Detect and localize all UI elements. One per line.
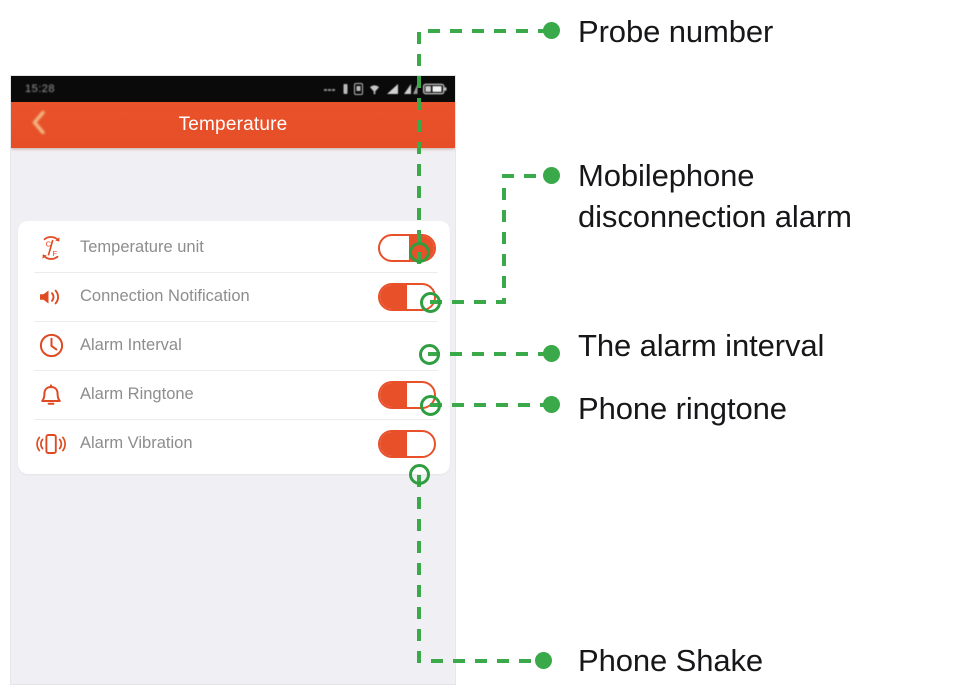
temperature-unit-toggle[interactable]: [378, 234, 436, 262]
settings-label: Temperature unit: [80, 238, 204, 257]
speaker-sound-icon: [34, 284, 68, 310]
wifi-icon: [368, 83, 381, 95]
signal-bars-icon: [386, 83, 399, 95]
status-bar: 15:28: [11, 76, 455, 102]
annotation-dot-alarm-interval: [543, 345, 560, 362]
back-chevron-icon[interactable]: [29, 110, 49, 141]
annotation-label-probe-number: Probe number: [578, 11, 773, 52]
toggle-knob: [407, 384, 433, 409]
annotation-label-phone-ringtone: Phone ringtone: [578, 388, 787, 429]
toggle-track-fill: [380, 432, 407, 456]
alarm-ringtone-control[interactable]: [378, 381, 436, 409]
annotation-dot-phone-shake: [535, 652, 552, 669]
status-bar-icons: [324, 83, 447, 95]
settings-label: Alarm Vibration: [80, 434, 193, 453]
toggle-knob: [407, 433, 433, 458]
svg-text:F: F: [52, 249, 57, 258]
clock-icon: [34, 332, 68, 359]
settings-label: Alarm Ringtone: [80, 385, 194, 404]
toggle-knob: [407, 286, 433, 311]
connection-notification-control[interactable]: [378, 283, 436, 311]
battery-icon: [423, 83, 447, 95]
annotation-label-mobilephone-disconnection-alarm: Mobilephone disconnection alarm: [578, 155, 852, 237]
settings-label: Connection Notification: [80, 287, 250, 306]
sim-card-icon: [354, 83, 363, 95]
settings-card: C F Temperature unit: [18, 221, 450, 474]
connection-notification-toggle[interactable]: [378, 283, 436, 311]
signal-bars-2-icon: [404, 83, 418, 95]
settings-row-alarm-interval[interactable]: Alarm Interval: [18, 321, 450, 370]
celsius-fahrenheit-swap-icon: C F: [34, 233, 68, 263]
temperature-unit-control[interactable]: [378, 234, 436, 262]
settings-row-temperature-unit[interactable]: C F Temperature unit: [18, 223, 450, 272]
app-title-bar: Temperature: [11, 102, 455, 148]
bell-icon: [34, 381, 68, 409]
settings-row-alarm-vibration[interactable]: Alarm Vibration: [18, 419, 450, 468]
usb-icon: [342, 83, 349, 95]
annotation-label-phone-shake: Phone Shake: [578, 640, 763, 681]
dots-icon: [324, 84, 337, 94]
settings-row-alarm-ringtone[interactable]: Alarm Ringtone: [18, 370, 450, 419]
toggle-track-fill: [380, 383, 407, 407]
annotation-dot-mobilephone: [543, 167, 560, 184]
screenshot-canvas: 15:28: [0, 0, 975, 689]
phone-mockup: 15:28: [10, 75, 456, 685]
settings-row-connection-notification[interactable]: Connection Notification: [18, 272, 450, 321]
alarm-vibration-control[interactable]: [378, 430, 436, 458]
status-bar-clock: 15:28: [25, 83, 55, 95]
annotation-dot-probe-number: [543, 22, 560, 39]
toggle-track-fill: [380, 285, 407, 309]
toggle-knob: [381, 237, 407, 262]
alarm-vibration-toggle[interactable]: [378, 430, 436, 458]
annotation-dot-phone-ringtone: [543, 396, 560, 413]
annotation-label-the-alarm-interval: The alarm interval: [578, 325, 824, 366]
phone-vibration-icon: [34, 430, 68, 458]
alarm-ringtone-toggle[interactable]: [378, 381, 436, 409]
toggle-track-fill: [409, 236, 434, 260]
page-title: Temperature: [179, 114, 288, 136]
settings-label: Alarm Interval: [80, 336, 182, 355]
